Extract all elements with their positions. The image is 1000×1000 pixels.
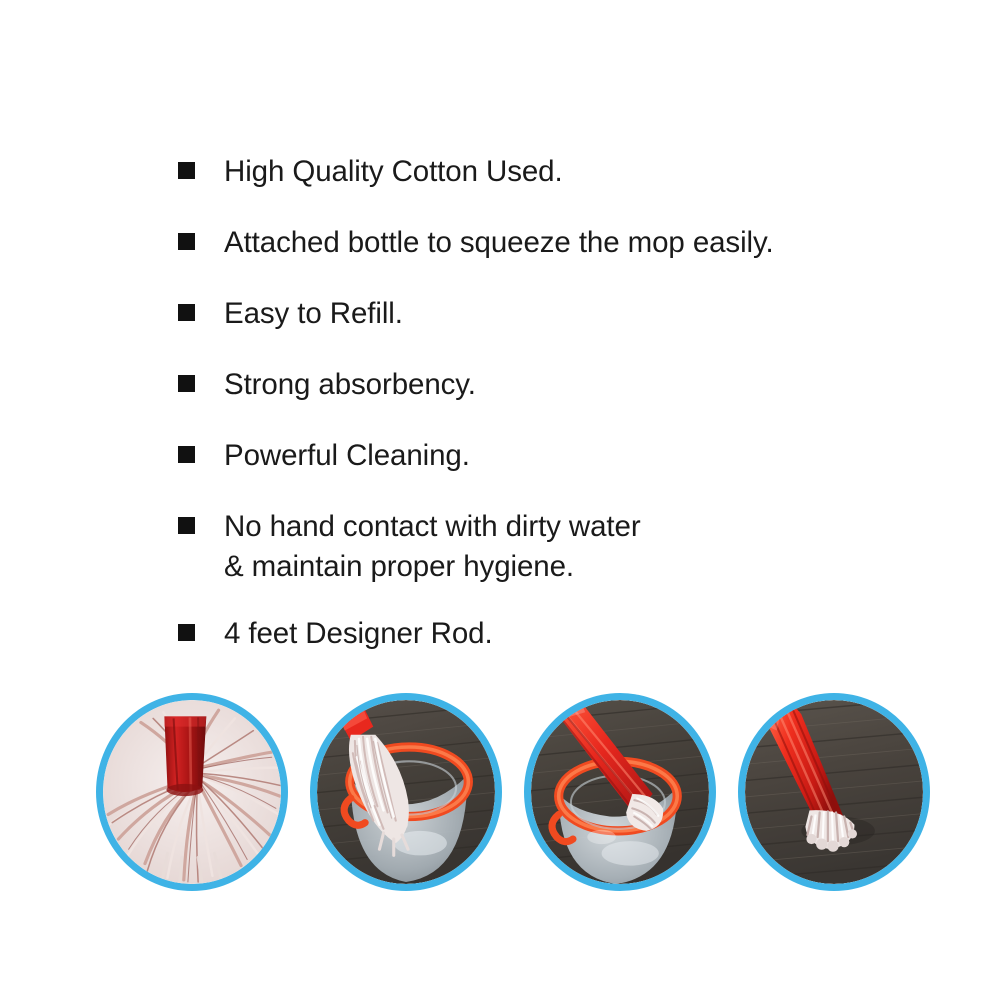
feature-list: High Quality Cotton Used. Attached bottl… [178, 152, 938, 685]
feature-label: 4 feet Designer Rod. [224, 614, 493, 654]
photo-image-rod-bucket [531, 700, 709, 884]
photo-image-mop-head [103, 700, 281, 884]
feature-label: Powerful Cleaning. [224, 436, 470, 476]
bullet-square-icon [178, 304, 195, 321]
feature-label: Attached bottle to squeeze the mop easil… [224, 223, 774, 263]
photo-image-mop-bucket [317, 700, 495, 884]
feature-item-high-quality-cotton: High Quality Cotton Used. [178, 152, 938, 192]
product-photo-strip [0, 693, 1000, 893]
bullet-square-icon [178, 446, 195, 463]
bullet-square-icon [178, 517, 195, 534]
feature-item-attached-bottle: Attached bottle to squeeze the mop easil… [178, 223, 938, 263]
feature-item-strong-absorbency: Strong absorbency. [178, 365, 938, 405]
bullet-square-icon [178, 375, 195, 392]
bullet-square-icon [178, 624, 195, 641]
product-photo-rod-across-bucket[interactable] [524, 693, 716, 891]
feature-item-designer-rod: 4 feet Designer Rod. [178, 614, 938, 654]
feature-item-no-hand-contact: No hand contact with dirty water & maint… [178, 507, 938, 587]
product-photo-mop-on-floor[interactable] [738, 693, 930, 891]
photo-image-mop-floor [745, 700, 923, 884]
bullet-square-icon [178, 162, 195, 179]
feature-label: Strong absorbency. [224, 365, 476, 405]
product-photo-mop-in-bucket[interactable] [310, 693, 502, 891]
product-photo-mop-head-closeup[interactable] [96, 693, 288, 891]
feature-label: High Quality Cotton Used. [224, 152, 563, 192]
feature-item-powerful-cleaning: Powerful Cleaning. [178, 436, 938, 476]
bullet-square-icon [178, 233, 195, 250]
feature-label: No hand contact with dirty water & maint… [224, 507, 641, 587]
product-feature-page: High Quality Cotton Used. Attached bottl… [0, 0, 1000, 1000]
feature-item-easy-to-refill: Easy to Refill. [178, 294, 938, 334]
feature-label: Easy to Refill. [224, 294, 403, 334]
